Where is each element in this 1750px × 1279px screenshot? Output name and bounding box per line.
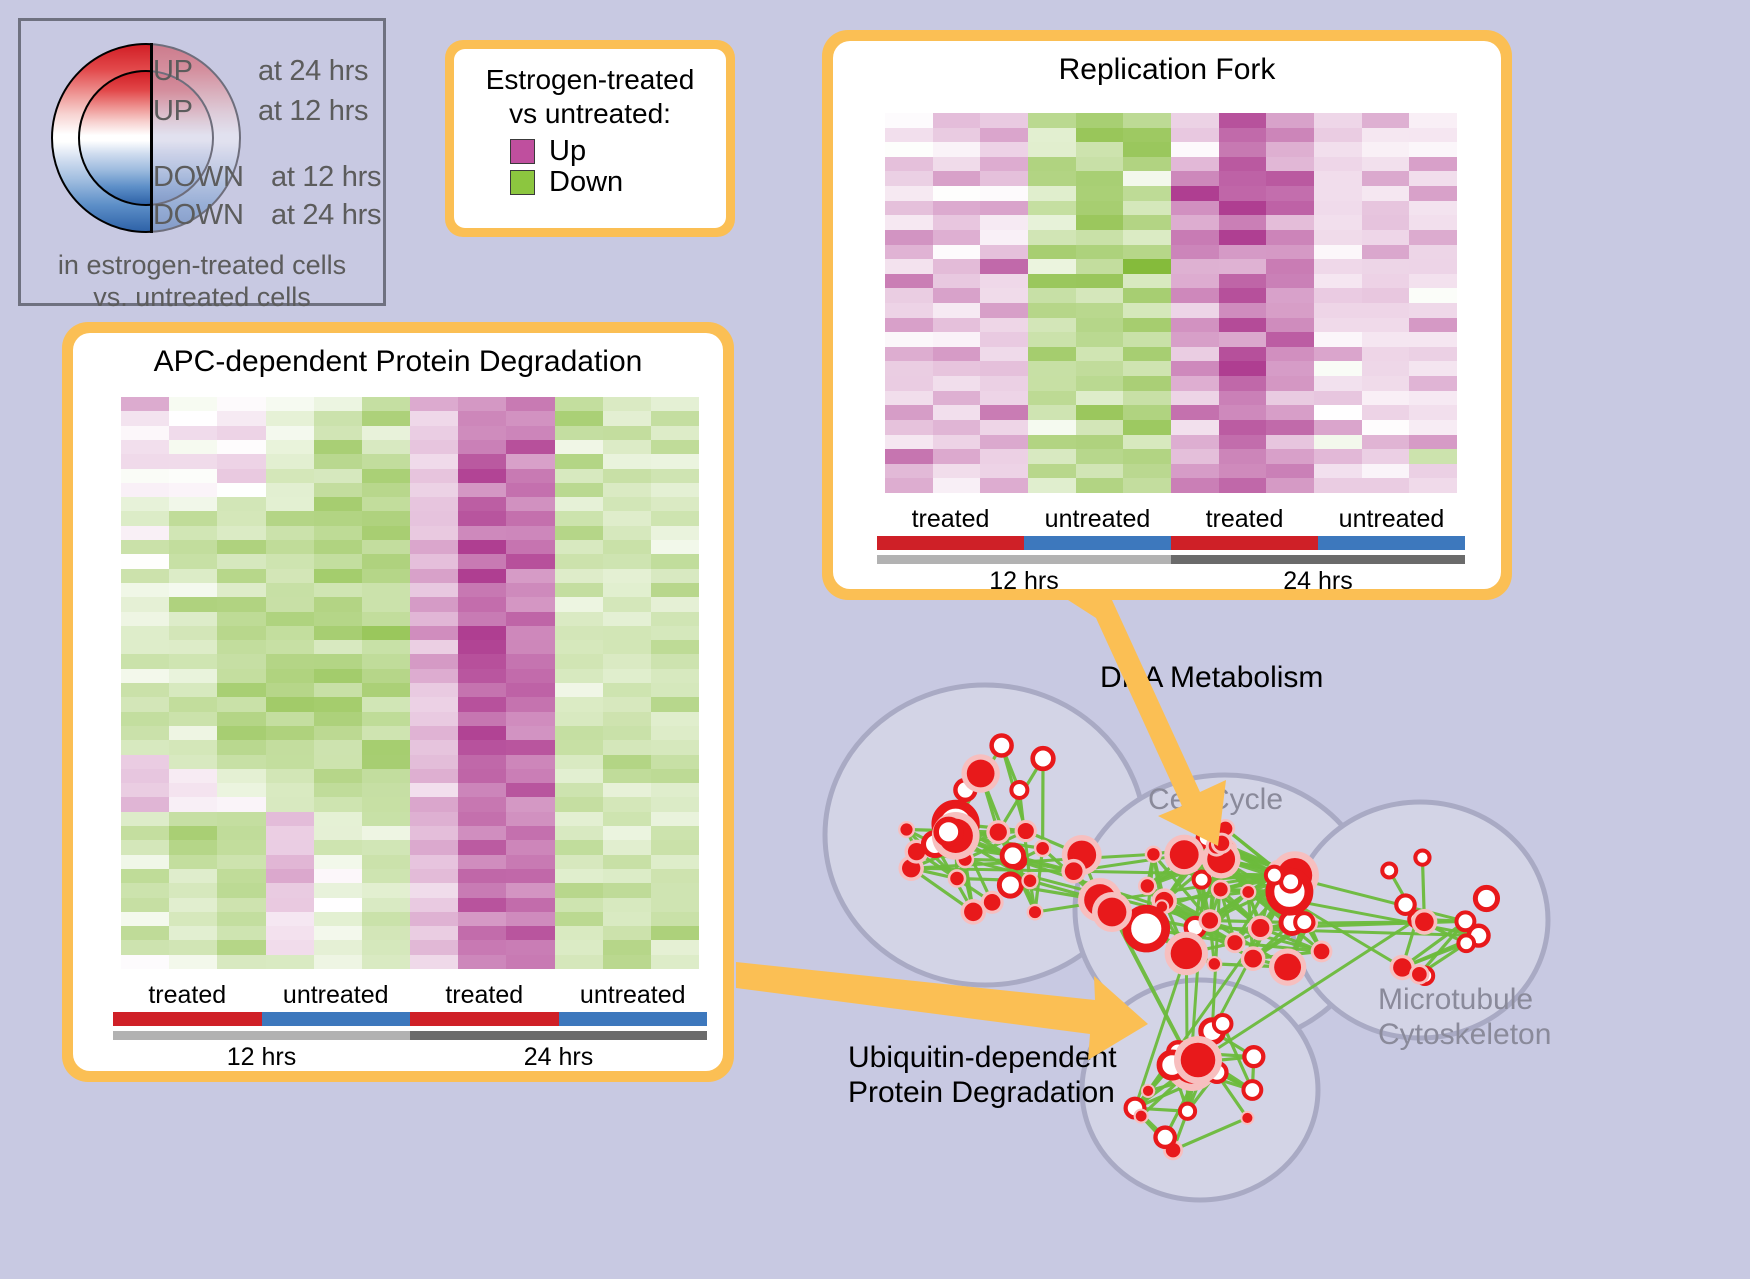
heatmap-cell: [1409, 464, 1457, 479]
network-node-ring: [1458, 935, 1474, 951]
heatmap-cell: [314, 812, 362, 826]
cluster-label-dna-metabolism: DNA Metabolism: [1100, 660, 1323, 695]
color-key-label-up-24: UP: [153, 55, 193, 88]
heatmap-cell: [1362, 230, 1410, 245]
heatmap-cell: [1171, 449, 1219, 464]
heatmap-cell: [1028, 391, 1076, 406]
heatmap-cell: [314, 426, 362, 440]
heatmap-cell: [980, 215, 1028, 230]
heatmap-cell: [458, 912, 506, 926]
legend-item-up: Up: [510, 137, 716, 166]
axis-group-labels-apc: treated untreated treated untreated: [113, 981, 707, 1010]
heatmap-cell: [1028, 420, 1076, 435]
heatmap-cell: [266, 783, 314, 797]
heatmap-cell: [1409, 274, 1457, 289]
heatmap-cell: [362, 740, 410, 754]
heatmap-cell: [933, 391, 981, 406]
heatmap-cell: [1171, 391, 1219, 406]
heatmap-cell: [651, 526, 699, 540]
heatmap-cell: [555, 912, 603, 926]
axis-time-label-12: 12 hrs: [877, 567, 1171, 589]
heatmap-cell: [458, 740, 506, 754]
heatmap-cell: [1266, 245, 1314, 260]
heatmap-cell: [933, 230, 981, 245]
heatmap-cell: [169, 912, 217, 926]
heatmap-cell: [1028, 171, 1076, 186]
heatmap-cell: [314, 540, 362, 554]
heatmap-cell: [362, 612, 410, 626]
heatmap-cell: [410, 626, 458, 640]
heatmap-cell: [458, 397, 506, 411]
heatmap-cell: [1314, 245, 1362, 260]
heatmap-cell: [314, 526, 362, 540]
axis-label-untreated-24: untreated: [1318, 505, 1465, 534]
heatmap-cell: [121, 526, 169, 540]
heatmap-cell: [266, 411, 314, 425]
heatmap-cell: [506, 497, 554, 511]
heatmap-cell: [458, 440, 506, 454]
bar-seg-untreated-24: [1318, 536, 1465, 550]
heatmap-cell: [1028, 186, 1076, 201]
heatmap-cell: [885, 215, 933, 230]
heatmap-cell: [506, 826, 554, 840]
heatmap-cell: [933, 303, 981, 318]
heatmap-cell: [980, 435, 1028, 450]
heatmap-cell: [506, 912, 554, 926]
axis-label-treated-12-apc: treated: [113, 981, 262, 1010]
heatmap-cell: [1171, 332, 1219, 347]
network-node: [1136, 1111, 1147, 1122]
heatmap-cell: [1028, 405, 1076, 420]
heatmap-cell: [980, 113, 1028, 128]
heatmap-cell: [410, 898, 458, 912]
heatmap-cell: [458, 540, 506, 554]
heatmap-cell: [217, 855, 265, 869]
heatmap-cell: [1171, 201, 1219, 216]
heatmap-cell: [217, 683, 265, 697]
heatmap-cell: [1409, 157, 1457, 172]
heatmap-cell: [1076, 245, 1124, 260]
heatmap-cell: [555, 883, 603, 897]
heatmap-cell: [266, 683, 314, 697]
heatmap-cell: [217, 483, 265, 497]
heatmap-cell: [1219, 201, 1267, 216]
heatmap-cell: [1266, 288, 1314, 303]
network-node: [1214, 836, 1229, 851]
heatmap-cell: [603, 855, 651, 869]
network-node: [1314, 944, 1330, 960]
heatmap-cell: [121, 626, 169, 640]
heatmap-cell: [1266, 318, 1314, 333]
heatmap-cell: [885, 435, 933, 450]
heatmap-cell: [506, 511, 554, 525]
heatmap-cell: [217, 497, 265, 511]
heatmap-cell: [1076, 157, 1124, 172]
heatmap-cell: [169, 726, 217, 740]
heatmap-cell: [1076, 230, 1124, 245]
heatmap-cell: [1171, 435, 1219, 450]
heatmap-cell: [603, 583, 651, 597]
color-key-footer-line2: vs. untreated cells: [21, 281, 383, 313]
heatmap-cell: [217, 926, 265, 940]
heatmap-cell: [121, 797, 169, 811]
heatmap-cell: [885, 318, 933, 333]
heatmap-cell: [121, 740, 169, 754]
heatmap-cell: [1123, 435, 1171, 450]
heatmap-cell: [555, 898, 603, 912]
bar-seg-time-12-apc: [113, 1031, 410, 1040]
heatmap-cell: [314, 612, 362, 626]
heatmap-cell: [651, 654, 699, 668]
heatmap-cell: [1123, 288, 1171, 303]
bar-seg-treated-12: [877, 536, 1024, 550]
axis-group-labels-replication-fork: treated untreated treated untreated: [877, 505, 1465, 534]
heatmap-cell: [651, 497, 699, 511]
network-node: [1214, 882, 1228, 896]
heatmap-cell: [362, 511, 410, 525]
heatmap-cell: [603, 626, 651, 640]
heatmap-cell: [1266, 157, 1314, 172]
heatmap-cell: [1362, 347, 1410, 362]
heatmap-cell: [217, 612, 265, 626]
network-node-ring: [992, 735, 1012, 755]
heatmap-cell: [362, 397, 410, 411]
heatmap-cell: [1219, 318, 1267, 333]
heatmap-cell: [603, 511, 651, 525]
heatmap-cell: [506, 612, 554, 626]
cluster-label-microtubule-cytoskeleton: Microtubule Cytoskeleton: [1378, 982, 1551, 1053]
heatmap-cell: [555, 411, 603, 425]
heatmap-cell: [651, 483, 699, 497]
heatmap-cell: [1076, 376, 1124, 391]
network-node: [1036, 842, 1049, 855]
heatmap-cell: [1076, 128, 1124, 143]
heatmap-cell: [1314, 113, 1362, 128]
heatmap-cell: [314, 654, 362, 668]
heatmap-cell: [314, 469, 362, 483]
heatmap-apc-degradation: [121, 397, 699, 969]
heatmap-cell: [1314, 391, 1362, 406]
heatmap-cell: [1266, 420, 1314, 435]
heatmap-cell: [1409, 245, 1457, 260]
heatmap-cell: [1028, 288, 1076, 303]
heatmap-cell: [266, 440, 314, 454]
heatmap-cell: [1266, 435, 1314, 450]
heatmap-cell: [603, 683, 651, 697]
heatmap-cell: [1123, 157, 1171, 172]
heatmap-cell: [217, 940, 265, 954]
heatmap-cell: [980, 171, 1028, 186]
heatmap-cell: [217, 898, 265, 912]
heatmap-cell: [1076, 478, 1124, 493]
heatmap-cell: [1314, 171, 1362, 186]
heatmap-cell: [555, 569, 603, 583]
heatmap-cell: [1028, 464, 1076, 479]
heatmap-cell: [362, 926, 410, 940]
heatmap-cell: [121, 454, 169, 468]
heatmap-cell: [121, 483, 169, 497]
heatmap-cell: [603, 797, 651, 811]
heatmap-cell: [1171, 215, 1219, 230]
heatmap-cell: [506, 454, 554, 468]
heatmap-cell: [651, 612, 699, 626]
heatmap-cell: [410, 926, 458, 940]
heatmap-cell: [217, 826, 265, 840]
heatmap-cell: [458, 569, 506, 583]
heatmap-cell: [506, 769, 554, 783]
heatmap-cell: [933, 157, 981, 172]
heatmap-cell: [266, 697, 314, 711]
heatmap-cell: [651, 826, 699, 840]
heatmap-cell: [651, 640, 699, 654]
heatmap-cell: [1219, 215, 1267, 230]
heatmap-cell: [169, 426, 217, 440]
network-node: [1274, 954, 1301, 981]
heatmap-cell: [1314, 435, 1362, 450]
heatmap-cell: [651, 683, 699, 697]
heatmap-cell: [314, 440, 362, 454]
heatmap-cell: [458, 955, 506, 969]
heatmap-cell: [121, 540, 169, 554]
heatmap-cell: [506, 469, 554, 483]
heatmap-cell: [651, 469, 699, 483]
heatmap-cell: [1266, 259, 1314, 274]
heatmap-cell: [410, 397, 458, 411]
heatmap-cell: [362, 940, 410, 954]
heatmap-cell: [651, 540, 699, 554]
heatmap-cell: [1123, 405, 1171, 420]
heatmap-cell: [651, 898, 699, 912]
heatmap-cell: [266, 812, 314, 826]
heatmap-cell: [169, 955, 217, 969]
heatmap-cell: [506, 869, 554, 883]
heatmap-cell: [410, 855, 458, 869]
heatmap-cell: [1076, 288, 1124, 303]
heatmap-cell: [1171, 113, 1219, 128]
heatmap-cell: [555, 397, 603, 411]
heatmap-cell: [555, 554, 603, 568]
heatmap-cell: [217, 426, 265, 440]
heatmap-cell: [1123, 391, 1171, 406]
heatmap-cell: [410, 726, 458, 740]
heatmap-cell: [651, 812, 699, 826]
heatmap-cell: [1314, 376, 1362, 391]
heatmap-cell: [169, 469, 217, 483]
heatmap-cell: [1314, 405, 1362, 420]
network-node: [950, 872, 963, 885]
heatmap-cell: [169, 755, 217, 769]
color-key-label-down-12: DOWN: [153, 161, 244, 194]
heatmap-cell: [217, 955, 265, 969]
heatmap-cell: [458, 597, 506, 611]
heatmap-cell: [1314, 201, 1362, 216]
heatmap-cell: [603, 526, 651, 540]
heatmap-cell: [1123, 142, 1171, 157]
heatmap-cell: [458, 783, 506, 797]
heatmap-cell: [362, 669, 410, 683]
heatmap-cell: [506, 697, 554, 711]
heatmap-cell: [217, 569, 265, 583]
heatmap-cell: [555, 511, 603, 525]
heatmap-cell: [1123, 230, 1171, 245]
updown-legend-items: Up Down: [464, 137, 716, 197]
heatmap-cell: [1028, 128, 1076, 143]
heatmap-cell: [1409, 391, 1457, 406]
heatmap-cell: [1219, 274, 1267, 289]
heatmap-cell: [314, 569, 362, 583]
legend-label-up: Up: [549, 137, 586, 166]
heatmap-cell: [885, 347, 933, 362]
heatmap-cell: [555, 697, 603, 711]
heatmap-cell: [169, 883, 217, 897]
heatmap-cell: [651, 597, 699, 611]
heatmap-cell: [506, 526, 554, 540]
heatmap-cell: [506, 898, 554, 912]
heatmap-cell: [603, 883, 651, 897]
heatmap-cell: [1171, 318, 1219, 333]
heatmap-cell: [314, 669, 362, 683]
heatmap-cell: [1028, 230, 1076, 245]
heatmap-cell: [314, 755, 362, 769]
heatmap-cell: [458, 626, 506, 640]
heatmap-cell: [266, 654, 314, 668]
heatmap-cell: [121, 940, 169, 954]
heatmap-cell: [980, 318, 1028, 333]
network-node-ring: [1194, 872, 1210, 888]
heatmap-cell: [217, 712, 265, 726]
heatmap-cell: [266, 469, 314, 483]
heatmap-cell: [458, 469, 506, 483]
heatmap-cell: [121, 497, 169, 511]
heatmap-cell: [410, 955, 458, 969]
heatmap-cell: [1362, 113, 1410, 128]
heatmap-cell: [1314, 259, 1362, 274]
heatmap-cell: [266, 640, 314, 654]
heatmap-cell: [169, 669, 217, 683]
heatmap-cell: [603, 783, 651, 797]
cluster-label-cell-cycle: Cell Cycle: [1148, 782, 1283, 817]
heatmap-cell: [933, 274, 981, 289]
heatmap-cell: [458, 940, 506, 954]
heatmap-cell: [314, 483, 362, 497]
network-node: [1171, 938, 1202, 969]
heatmap-cell: [362, 783, 410, 797]
heatmap-cell: [217, 755, 265, 769]
heatmap-cell: [1314, 420, 1362, 435]
heatmap-cell: [933, 215, 981, 230]
heatmap-cell: [169, 812, 217, 826]
heatmap-cell: [1219, 128, 1267, 143]
heatmap-cell: [555, 740, 603, 754]
heatmap-cell: [362, 797, 410, 811]
heatmap-cell: [217, 440, 265, 454]
heatmap-cell: [555, 583, 603, 597]
heatmap-cell: [1266, 142, 1314, 157]
heatmap-cell: [651, 511, 699, 525]
network-node: [1415, 912, 1434, 931]
panel-replication-fork-inner: Replication Fork treated untreated treat…: [833, 41, 1501, 589]
heatmap-cell: [1028, 347, 1076, 362]
heatmap-cell: [980, 245, 1028, 260]
heatmap-cell: [169, 497, 217, 511]
axis-block-replication-fork: treated untreated treated untreated 12 h: [877, 505, 1465, 589]
heatmap-cell: [362, 526, 410, 540]
heatmap-cell: [506, 397, 554, 411]
heatmap-cell: [410, 840, 458, 854]
heatmap-cell: [651, 554, 699, 568]
heatmap-cell: [169, 554, 217, 568]
heatmap-cell: [314, 883, 362, 897]
heatmap-cell: [266, 726, 314, 740]
heatmap-cell: [458, 855, 506, 869]
heatmap-cell: [410, 640, 458, 654]
heatmap-cell: [1219, 332, 1267, 347]
heatmap-cell: [410, 712, 458, 726]
heatmap-cell: [506, 840, 554, 854]
heatmap-cell: [885, 332, 933, 347]
heatmap-cell: [314, 783, 362, 797]
heatmap-cell: [266, 554, 314, 568]
heatmap-cell: [1362, 478, 1410, 493]
heatmap-cell: [603, 869, 651, 883]
heatmap-cell: [121, 440, 169, 454]
heatmap-cell: [121, 826, 169, 840]
heatmap-cell: [1314, 464, 1362, 479]
heatmap-cell: [506, 597, 554, 611]
heatmap-cell: [169, 540, 217, 554]
heatmap-cell: [885, 142, 933, 157]
heatmap-cell: [266, 712, 314, 726]
heatmap-cell: [1076, 391, 1124, 406]
heatmap-cell: [506, 654, 554, 668]
heatmap-cell: [933, 113, 981, 128]
heatmap-cell: [651, 869, 699, 883]
heatmap-cell: [1076, 464, 1124, 479]
heatmap-cell: [1219, 449, 1267, 464]
heatmap-cell: [1362, 288, 1410, 303]
heatmap-cell: [458, 526, 506, 540]
heatmap-cell: [169, 569, 217, 583]
heatmap-cell: [1123, 361, 1171, 376]
heatmap-cell: [362, 426, 410, 440]
heatmap-cell: [603, 898, 651, 912]
heatmap-cell: [458, 483, 506, 497]
heatmap-cell: [1314, 128, 1362, 143]
heatmap-cell: [1076, 361, 1124, 376]
heatmap-cell: [506, 426, 554, 440]
heatmap-cell: [458, 769, 506, 783]
heatmap-cell: [603, 826, 651, 840]
heatmap-cell: [1314, 332, 1362, 347]
heatmap-cell: [1266, 405, 1314, 420]
heatmap-cell: [1362, 201, 1410, 216]
heatmap-cell: [217, 583, 265, 597]
heatmap-cell: [1123, 478, 1171, 493]
heatmap-cell: [1076, 259, 1124, 274]
network-node-ring: [1243, 1081, 1261, 1099]
heatmap-cell: [651, 454, 699, 468]
panel-title-replication-fork: Replication Fork: [833, 41, 1501, 87]
heatmap-cell: [458, 654, 506, 668]
heatmap-cell: [506, 626, 554, 640]
heatmap-cell: [1219, 245, 1267, 260]
heatmap-cell: [1266, 449, 1314, 464]
heatmap-cell: [410, 783, 458, 797]
heatmap-cell: [933, 435, 981, 450]
network-node: [1024, 874, 1036, 886]
heatmap-cell: [314, 511, 362, 525]
heatmap-cell: [980, 186, 1028, 201]
